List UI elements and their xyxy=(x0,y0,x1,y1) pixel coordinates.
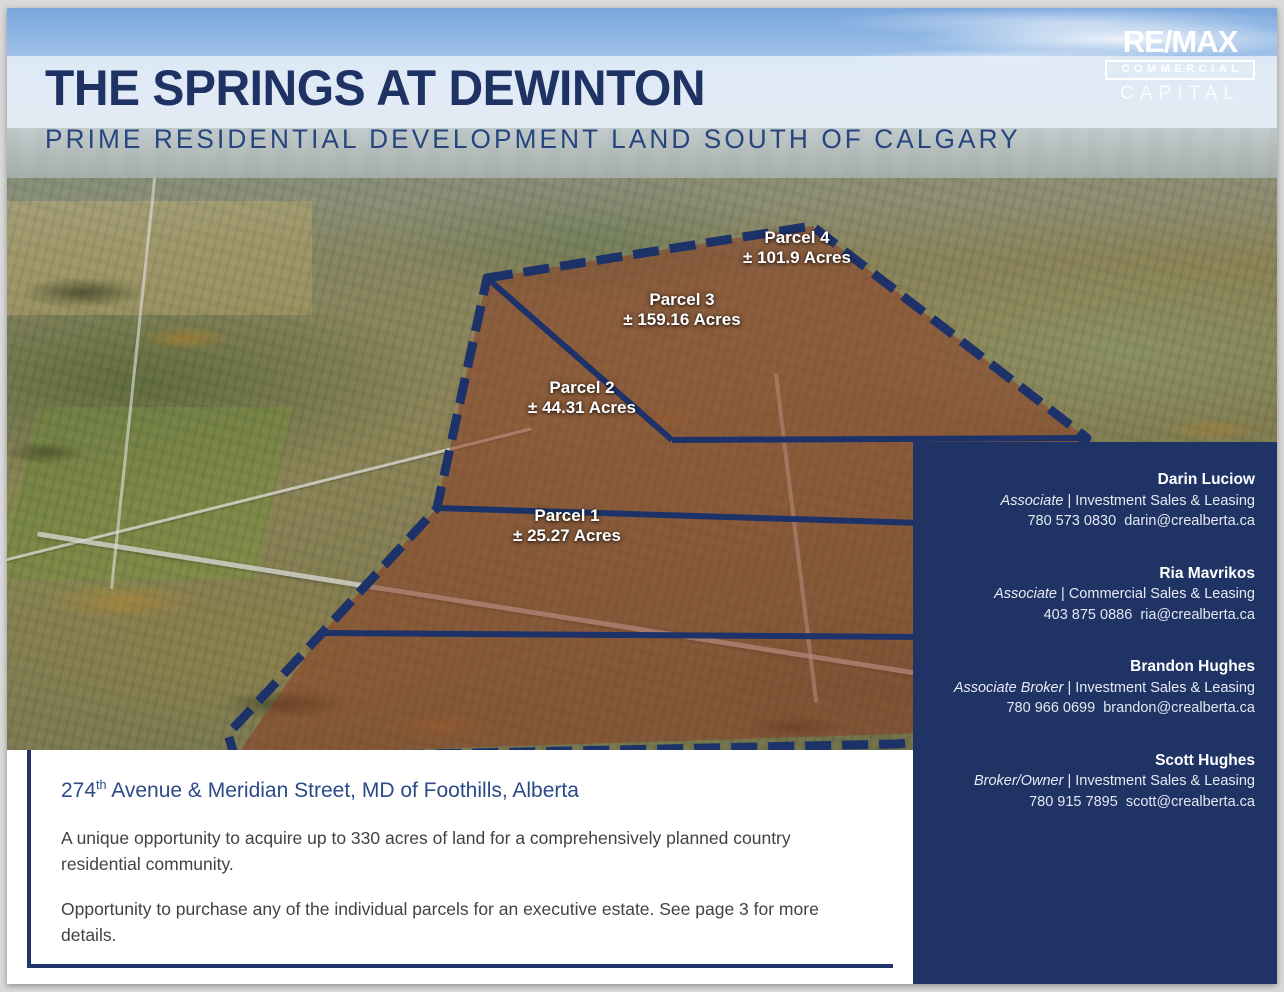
contact-role: Broker/Owner | Investment Sales & Leasin… xyxy=(913,771,1255,791)
contact-email[interactable]: ria@crealberta.ca xyxy=(1140,607,1255,623)
contact-name: Darin Luciow xyxy=(913,470,1255,491)
contact-card: Ria Mavrikos Associate | Commercial Sale… xyxy=(913,564,1255,626)
summary-block: 274th Avenue & Meridian Street, MD of Fo… xyxy=(27,750,893,968)
contact-phone[interactable]: 403 875 0886 xyxy=(1044,607,1133,623)
parcel-4-name: Parcel 4 xyxy=(697,228,897,248)
contact-role: Associate | Commercial Sales & Leasing xyxy=(913,584,1255,604)
summary-paragraph-1: A unique opportunity to acquire up to 33… xyxy=(61,825,867,878)
page-title: THE SPRINGS AT DEWINTON xyxy=(45,62,1011,115)
parcel-1-area: ± 25.27 Acres xyxy=(467,526,667,546)
contact-card: Brandon Hughes Associate Broker | Invest… xyxy=(913,657,1255,719)
contact-title: Associate Broker xyxy=(954,680,1064,696)
contact-email[interactable]: darin@crealberta.ca xyxy=(1124,513,1255,529)
contact-role: Associate Broker | Investment Sales & Le… xyxy=(913,678,1255,698)
remax-commercial-badge: COMMERCIAL xyxy=(1105,60,1255,80)
contact-phone[interactable]: 780 915 7895 xyxy=(1029,794,1118,810)
parcel-2-name: Parcel 2 xyxy=(482,378,682,398)
contact-title: Associate xyxy=(1001,493,1064,509)
address-ordinal: th xyxy=(96,778,107,792)
contact-card: Darin Luciow Associate | Investment Sale… xyxy=(913,470,1255,532)
contact-name: Ria Mavrikos xyxy=(913,564,1255,585)
remax-brand-text: RE/MAX xyxy=(1105,26,1255,57)
contact-department: Investment Sales & Leasing xyxy=(1075,680,1255,696)
contact-department: Commercial Sales & Leasing xyxy=(1069,586,1255,602)
parcel-4-label: Parcel 4 ± 101.9 Acres xyxy=(697,228,897,268)
contact-title: Associate xyxy=(994,586,1057,602)
contact-panel: Darin Luciow Associate | Investment Sale… xyxy=(913,442,1277,984)
parcel-3-area: ± 159.16 Acres xyxy=(582,310,782,330)
divider-p3-p4-east xyxy=(672,438,1087,440)
summary-paragraph-2: Opportunity to purchase any of the indiv… xyxy=(61,896,867,949)
parcel-4-area: ± 101.9 Acres xyxy=(697,248,897,268)
contact-department: Investment Sales & Leasing xyxy=(1075,493,1255,509)
brochure-page: THE SPRINGS AT DEWINTON PRIME RESIDENTIA… xyxy=(7,8,1277,984)
contact-info: 780 573 0830 darin@crealberta.ca xyxy=(913,511,1255,531)
property-address: 274th Avenue & Meridian Street, MD of Fo… xyxy=(61,778,867,803)
parcel-2-label: Parcel 2 ± 44.31 Acres xyxy=(482,378,682,418)
contact-title: Broker/Owner xyxy=(974,773,1063,789)
contact-card: Scott Hughes Broker/Owner | Investment S… xyxy=(913,751,1255,813)
contact-info: 780 915 7895 scott@crealberta.ca xyxy=(913,792,1255,812)
contact-phone[interactable]: 780 573 0830 xyxy=(1027,513,1116,529)
contact-email[interactable]: brandon@crealberta.ca xyxy=(1103,700,1255,716)
contact-phone[interactable]: 780 966 0699 xyxy=(1006,700,1095,716)
contact-name: Brandon Hughes xyxy=(913,657,1255,678)
remax-logo[interactable]: RE/MAX COMMERCIAL CAPITAL xyxy=(1105,26,1255,103)
parcel-1-label: Parcel 1 ± 25.27 Acres xyxy=(467,506,667,546)
contact-department: Investment Sales & Leasing xyxy=(1075,773,1255,789)
parcel-3-label: Parcel 3 ± 159.16 Acres xyxy=(582,290,782,330)
header-text-group: THE SPRINGS AT DEWINTON PRIME RESIDENTIA… xyxy=(45,62,1051,155)
parcel-1-name: Parcel 1 xyxy=(467,506,667,526)
contact-email[interactable]: scott@crealberta.ca xyxy=(1126,794,1255,810)
parcel-3-name: Parcel 3 xyxy=(582,290,782,310)
page-header: THE SPRINGS AT DEWINTON PRIME RESIDENTIA… xyxy=(7,8,1277,178)
contact-info: 780 966 0699 brandon@crealberta.ca xyxy=(913,698,1255,718)
address-rest: Avenue & Meridian Street, MD of Foothill… xyxy=(107,779,579,802)
parcel-2-area: ± 44.31 Acres xyxy=(482,398,682,418)
remax-capital-text: CAPITAL xyxy=(1105,84,1255,103)
page-subtitle: PRIME RESIDENTIAL DEVELOPMENT LAND SOUTH… xyxy=(45,124,1021,155)
contact-info: 403 875 0886 ria@crealberta.ca xyxy=(913,605,1255,625)
contact-name: Scott Hughes xyxy=(913,751,1255,772)
address-number: 274 xyxy=(61,779,96,802)
contact-role: Associate | Investment Sales & Leasing xyxy=(913,491,1255,511)
